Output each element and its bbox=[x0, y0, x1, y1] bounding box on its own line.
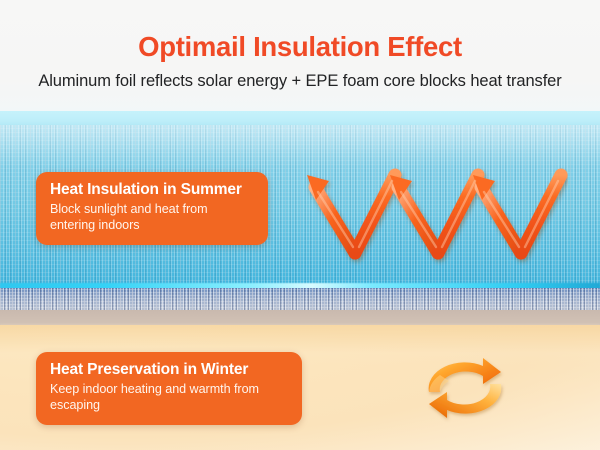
insulation-infographic: Optimail Insulation Effect Aluminum foil… bbox=[0, 0, 600, 450]
page-subtitle: Aluminum foil reflects solar energy + EP… bbox=[0, 70, 600, 93]
foil-grain-texture bbox=[0, 288, 600, 311]
zigzag-reflected-rays-icon bbox=[303, 157, 568, 267]
callout-summer-body: Block sunlight and heat from entering in… bbox=[50, 202, 254, 234]
callout-card-winter[interactable]: Heat Preservation in Winter Keep indoor … bbox=[36, 352, 302, 425]
page-title: Optimail Insulation Effect bbox=[0, 33, 600, 61]
aluminum-foil-layer bbox=[0, 288, 600, 311]
callout-winter-title: Heat Preservation in Winter bbox=[50, 361, 288, 379]
callout-card-summer[interactable]: Heat Insulation in Summer Block sunlight… bbox=[36, 172, 268, 245]
header-banner: Optimail Insulation Effect Aluminum foil… bbox=[0, 0, 600, 113]
circular-heat-loop-icon bbox=[410, 352, 520, 424]
callout-summer-title: Heat Insulation in Summer bbox=[50, 181, 254, 199]
callout-winter-body: Keep indoor heating and warmth from esca… bbox=[50, 382, 288, 414]
